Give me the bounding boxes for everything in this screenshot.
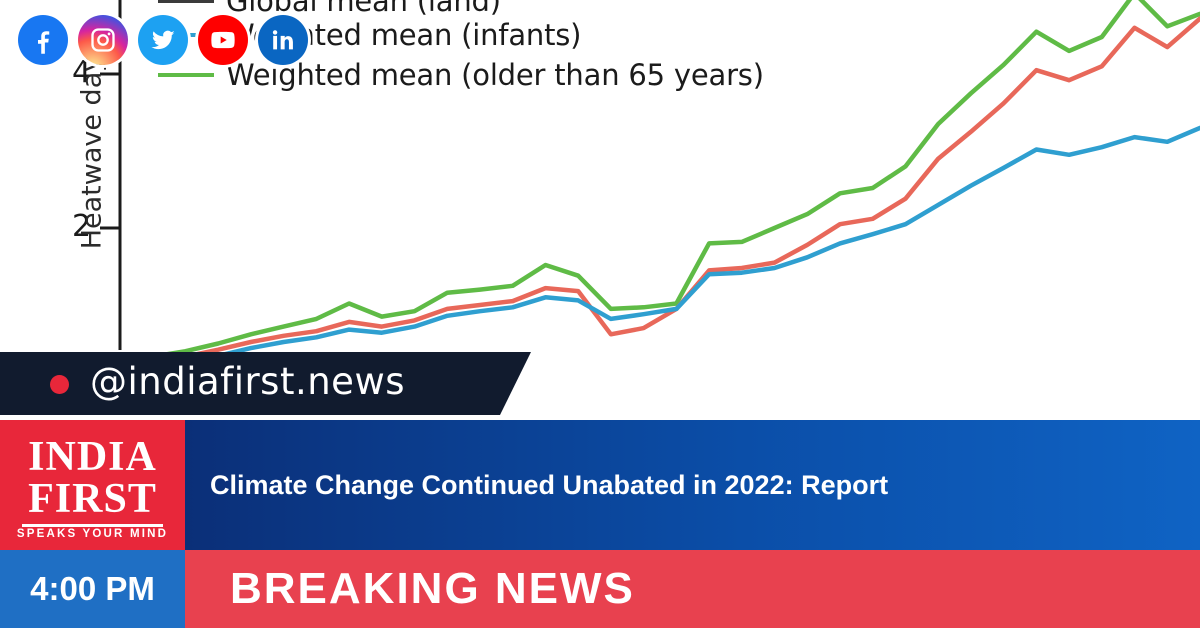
twitter-icon[interactable] bbox=[138, 15, 188, 65]
clock-box: 4:00 PM bbox=[0, 550, 185, 628]
headline-box: Climate Change Continued Unabated in 202… bbox=[185, 420, 1200, 550]
logo-line-2: FIRST bbox=[0, 478, 185, 520]
instagram-icon[interactable] bbox=[78, 15, 128, 65]
channel-logo: INDIA FIRST SPEAKS YOUR MIND bbox=[0, 420, 185, 550]
youtube-icon[interactable] bbox=[198, 15, 248, 65]
live-dot-icon bbox=[50, 375, 69, 394]
breaking-news-strip: 4:00 PM BREAKING NEWS bbox=[0, 550, 1200, 628]
channel-handle-text: @indiafirst.news bbox=[90, 360, 405, 403]
headline-text: Climate Change Continued Unabated in 202… bbox=[210, 470, 888, 501]
logo-divider bbox=[22, 524, 163, 527]
breaking-label-box: BREAKING NEWS bbox=[185, 550, 1200, 628]
legend-swatch-older bbox=[158, 73, 214, 77]
breaking-label-text: BREAKING NEWS bbox=[230, 564, 635, 614]
logo-line-1: INDIA bbox=[0, 436, 185, 478]
channel-handle-banner: @indiafirst.news bbox=[0, 352, 500, 415]
headline-strip: INDIA FIRST SPEAKS YOUR MIND Climate Cha… bbox=[0, 420, 1200, 550]
legend-swatch-global-mean bbox=[158, 0, 214, 3]
clock-text: 4:00 PM bbox=[30, 570, 155, 608]
logo-tagline: SPEAKS YOUR MIND bbox=[0, 528, 185, 540]
facebook-icon[interactable] bbox=[18, 15, 68, 65]
linkedin-icon[interactable] bbox=[258, 15, 308, 65]
social-icon-bar bbox=[18, 15, 308, 65]
